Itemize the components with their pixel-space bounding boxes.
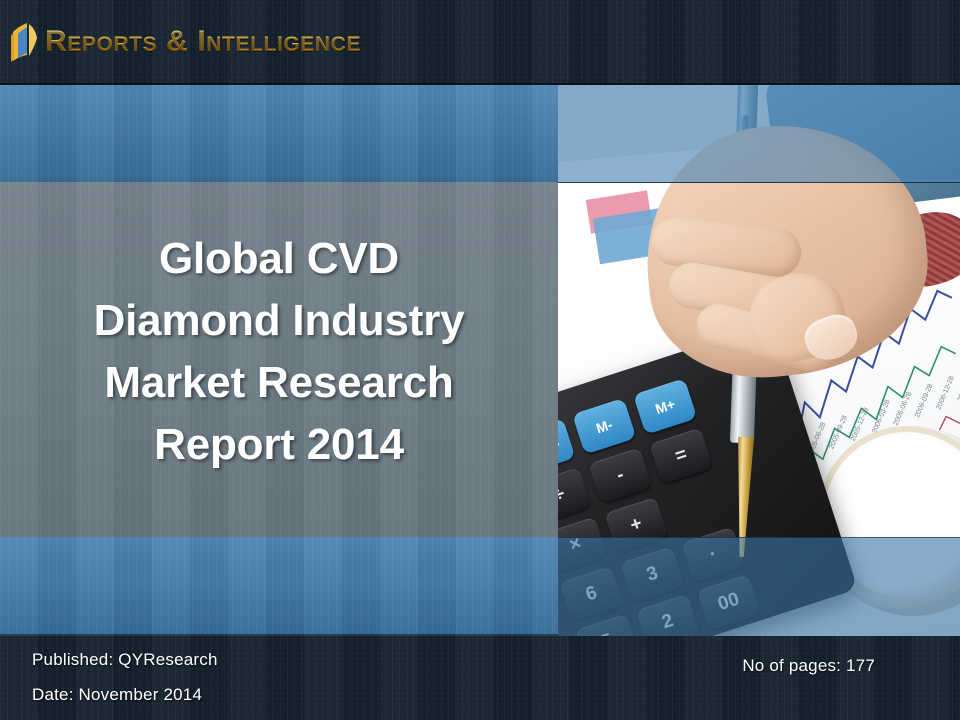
calc-key-minus: - (588, 447, 652, 504)
calc-key-equals: = (649, 428, 713, 485)
calc-key-mplus: M+ (633, 378, 697, 435)
brand-logo[interactable]: Reports & Intelligence (10, 19, 361, 65)
title-line-4: Report 2014 (0, 414, 558, 476)
title-line-1: Global CVD (0, 228, 558, 290)
page-title: Global CVD Diamond Industry Market Resea… (0, 228, 558, 476)
report-cover-slide: Reports & Intelligence Global CVD Diamon… (0, 0, 960, 720)
photo-band-overlay-top (558, 85, 960, 183)
header-bar: Reports & Intelligence (0, 0, 960, 85)
published-by: Published: QYResearch (32, 650, 218, 670)
calc-key-mrc: MRC (558, 418, 576, 475)
brand-name: Reports & Intelligence (45, 25, 361, 59)
page-count: No of pages: 177 (742, 656, 875, 676)
title-line-3: Market Research (0, 352, 558, 414)
title-line-2: Diamond Industry (0, 290, 558, 352)
publication-date: Date: November 2014 (32, 685, 202, 705)
cover-photo: 2004-09-28 2004-12-28 2005-03-28 2005-06… (558, 85, 960, 636)
bar-chart-flag-icon (10, 22, 38, 62)
photo-band-overlay-bottom (558, 537, 960, 636)
calc-key-mminus: M- (572, 398, 636, 455)
footer-bar: Published: QYResearch Date: November 201… (0, 636, 960, 720)
calc-key-divide: ÷ (558, 467, 592, 524)
